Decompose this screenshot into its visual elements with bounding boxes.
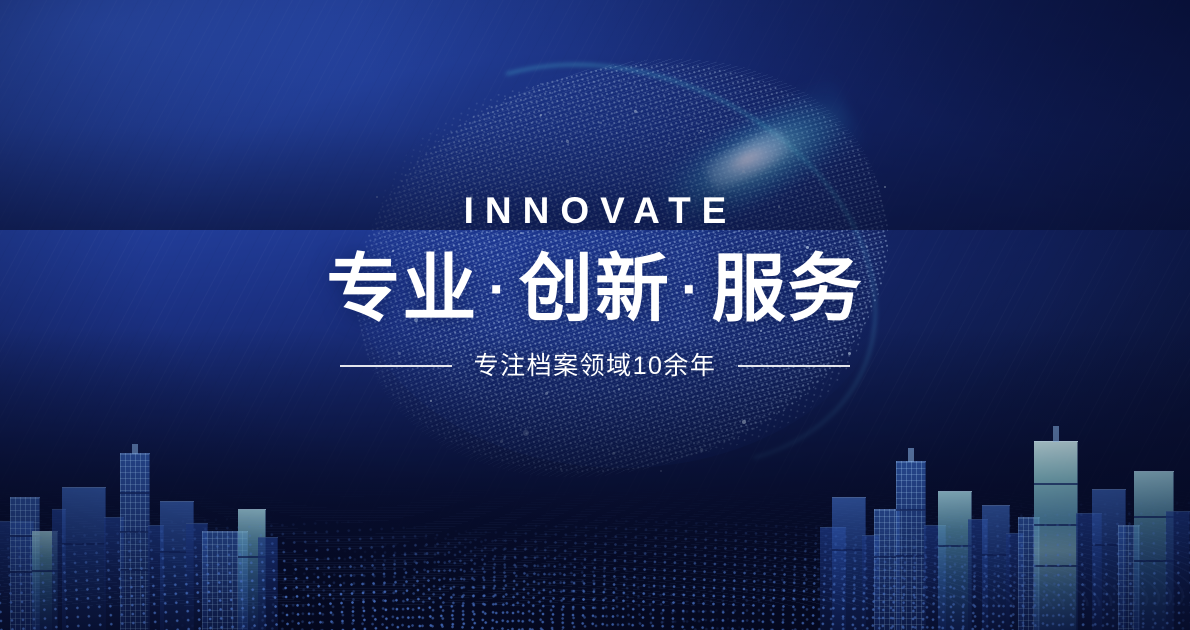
background-vignette [0, 0, 1190, 630]
hero-banner: INNOVATE 专业·创新·服务 专注档案领域10余年 [0, 0, 1190, 630]
